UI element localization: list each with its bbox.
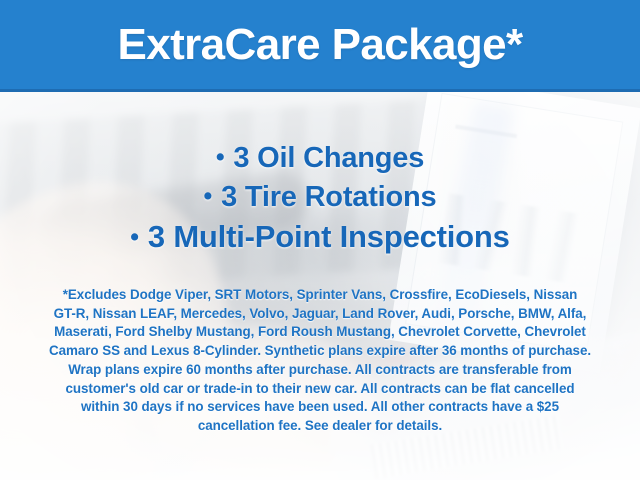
disclaimer-text: *Excludes Dodge Viper, SRT Motors, Sprin… [28, 286, 612, 436]
benefit-label: 3 Multi-Point Inspections [148, 219, 510, 254]
disclaimer-line: GT-R, Nissan LEAF, Mercedes, Volvo, Jagu… [28, 305, 612, 324]
benefit-item-tire-rotations: •3 Tire Rotations [0, 177, 640, 216]
benefits-list: •3 Oil Changes •3 Tire Rotations •3 Mult… [0, 138, 640, 258]
disclaimer-line: Camaro SS and Lexus 8-Cylinder. Syntheti… [28, 342, 612, 361]
extracare-package-promo: ExtraCare Package* •3 Oil Changes •3 Tir… [0, 0, 640, 480]
disclaimer-line: within 30 days if no services have been … [28, 398, 612, 417]
bullet-icon: • [130, 216, 139, 258]
header-banner: ExtraCare Package* [0, 0, 640, 92]
page-title: ExtraCare Package* [117, 23, 522, 67]
benefit-item-multi-point-inspections: •3 Multi-Point Inspections [0, 216, 640, 258]
disclaimer-line: Wrap plans expire 60 months after purcha… [28, 361, 612, 380]
disclaimer-line: *Excludes Dodge Viper, SRT Motors, Sprin… [28, 286, 612, 305]
bullet-icon: • [204, 177, 213, 215]
benefit-label: 3 Oil Changes [233, 142, 424, 174]
disclaimer-line: Maserati, Ford Shelby Mustang, Ford Rous… [28, 323, 612, 342]
disclaimer-line: cancellation fee. See dealer for details… [28, 417, 612, 436]
bullet-icon: • [216, 138, 225, 176]
benefit-item-oil-changes: •3 Oil Changes [0, 138, 640, 177]
disclaimer-line: customer's old car or trade-in to their … [28, 380, 612, 399]
benefit-label: 3 Tire Rotations [221, 181, 436, 213]
